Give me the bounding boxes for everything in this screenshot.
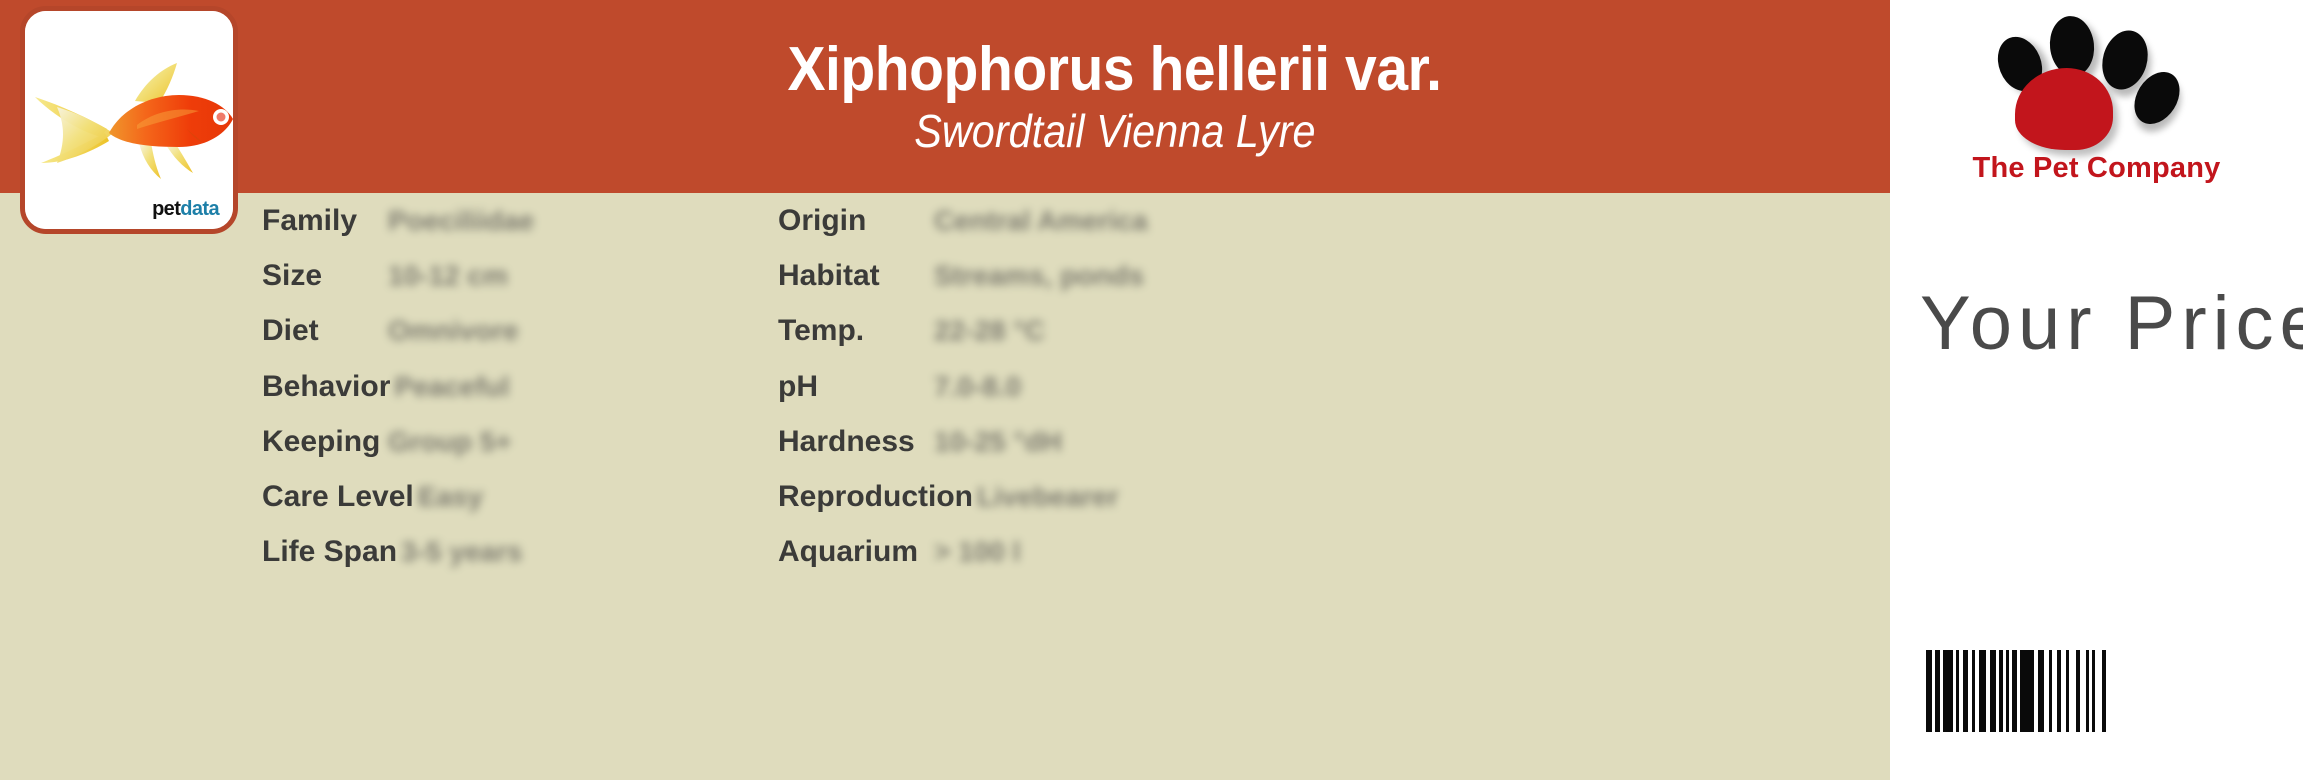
spec-label-size: Size <box>262 259 384 293</box>
spec-value-ph: 7.0-8.0 <box>934 371 1021 403</box>
spec-value-habitat: Streams, ponds <box>934 260 1144 292</box>
spec-column-left: Family Poeciliidae Size 10-12 cm Diet Om… <box>262 193 762 580</box>
spec-value-hardness: 10-25 °dH <box>934 426 1062 458</box>
spec-row-care-level: Care Level Easy <box>262 469 762 524</box>
barcode-bar <box>2020 650 2034 732</box>
barcode-space <box>2106 650 2112 732</box>
spec-label-keeping: Keeping <box>262 425 384 459</box>
spec-label-origin: Origin <box>778 204 930 238</box>
barcode <box>1926 650 2112 732</box>
spec-row-diet: Diet Omnivore <box>262 304 762 359</box>
spec-row-temperature: Temp. 22-28 °C <box>778 304 1338 359</box>
spec-row-reproduction: Reproduction Livebearer <box>778 469 1338 524</box>
paw-print-icon <box>1977 8 2217 158</box>
spec-row-ph: pH 7.0-8.0 <box>778 359 1338 414</box>
spec-value-life-span: 3-5 years <box>401 536 522 568</box>
spec-label-ph: pH <box>778 370 930 404</box>
spec-value-family: Poeciliidae <box>388 205 534 237</box>
spec-value-origin: Central America <box>934 205 1148 237</box>
spec-value-keeping: Group 5+ <box>388 426 512 458</box>
spec-row-size: Size 10-12 cm <box>262 248 762 303</box>
spec-value-temperature: 22-28 °C <box>934 315 1045 347</box>
spec-label-care-level: Care Level <box>262 480 414 514</box>
spec-row-habitat: Habitat Streams, ponds <box>778 248 1338 303</box>
brand-name: The Pet Company <box>1890 152 2303 185</box>
spec-label-behavior: Behavior <box>262 370 390 404</box>
swordtail-fish-icon <box>27 45 238 195</box>
barcode-bar <box>1943 650 1953 732</box>
spec-label-temperature: Temp. <box>778 314 930 348</box>
spec-value-aquarium: > 100 l <box>934 536 1020 568</box>
spec-row-keeping: Keeping Group 5+ <box>262 414 762 469</box>
spec-row-family: Family Poeciliidae <box>262 193 762 248</box>
spec-grid: Family Poeciliidae Size 10-12 cm Diet Om… <box>0 193 1890 780</box>
spec-row-behavior: Behavior Peaceful <box>262 359 762 414</box>
header-band: Xiphophorus hellerii var. Swordtail Vien… <box>0 0 1890 193</box>
barcode-bar <box>1979 650 1986 732</box>
spec-column-right: Origin Central America Habitat Streams, … <box>778 193 1338 580</box>
header-title-block: Xiphophorus hellerii var. Swordtail Vien… <box>340 0 1890 193</box>
spec-value-reproduction: Livebearer <box>977 481 1119 513</box>
spec-value-care-level: Easy <box>418 481 483 513</box>
spec-label-family: Family <box>262 204 384 238</box>
price-label: Your Price <box>1920 286 2303 362</box>
spec-label-aquarium: Aquarium <box>778 535 930 569</box>
spec-row-aquarium: Aquarium > 100 l <box>778 525 1338 580</box>
spec-label-life-span: Life Span <box>262 535 397 569</box>
spec-row-life-span: Life Span 3-5 years <box>262 525 762 580</box>
spec-value-diet: Omnivore <box>388 315 519 347</box>
spec-row-origin: Origin Central America <box>778 193 1338 248</box>
spec-label-habitat: Habitat <box>778 259 930 293</box>
pet-label-card: Xiphophorus hellerii var. Swordtail Vien… <box>0 0 2303 780</box>
barcode-space <box>2069 650 2076 732</box>
spec-value-behavior: Peaceful <box>394 371 509 403</box>
barcode-space <box>2095 650 2102 732</box>
spec-label-diet: Diet <box>262 314 384 348</box>
species-scientific-name: Xiphophorus hellerii var. <box>788 38 1442 101</box>
spec-label-hardness: Hardness <box>778 425 930 459</box>
spec-label-reproduction: Reproduction <box>778 480 973 514</box>
species-common-name: Swordtail Vienna Lyre <box>914 107 1315 155</box>
brand-logo: The Pet Company <box>1890 8 2303 198</box>
spec-value-size: 10-12 cm <box>388 260 508 292</box>
price-panel: The Pet Company Your Price <box>1890 0 2303 780</box>
info-sheet: Xiphophorus hellerii var. Swordtail Vien… <box>0 0 1890 780</box>
spec-row-hardness: Hardness 10-25 °dH <box>778 414 1338 469</box>
